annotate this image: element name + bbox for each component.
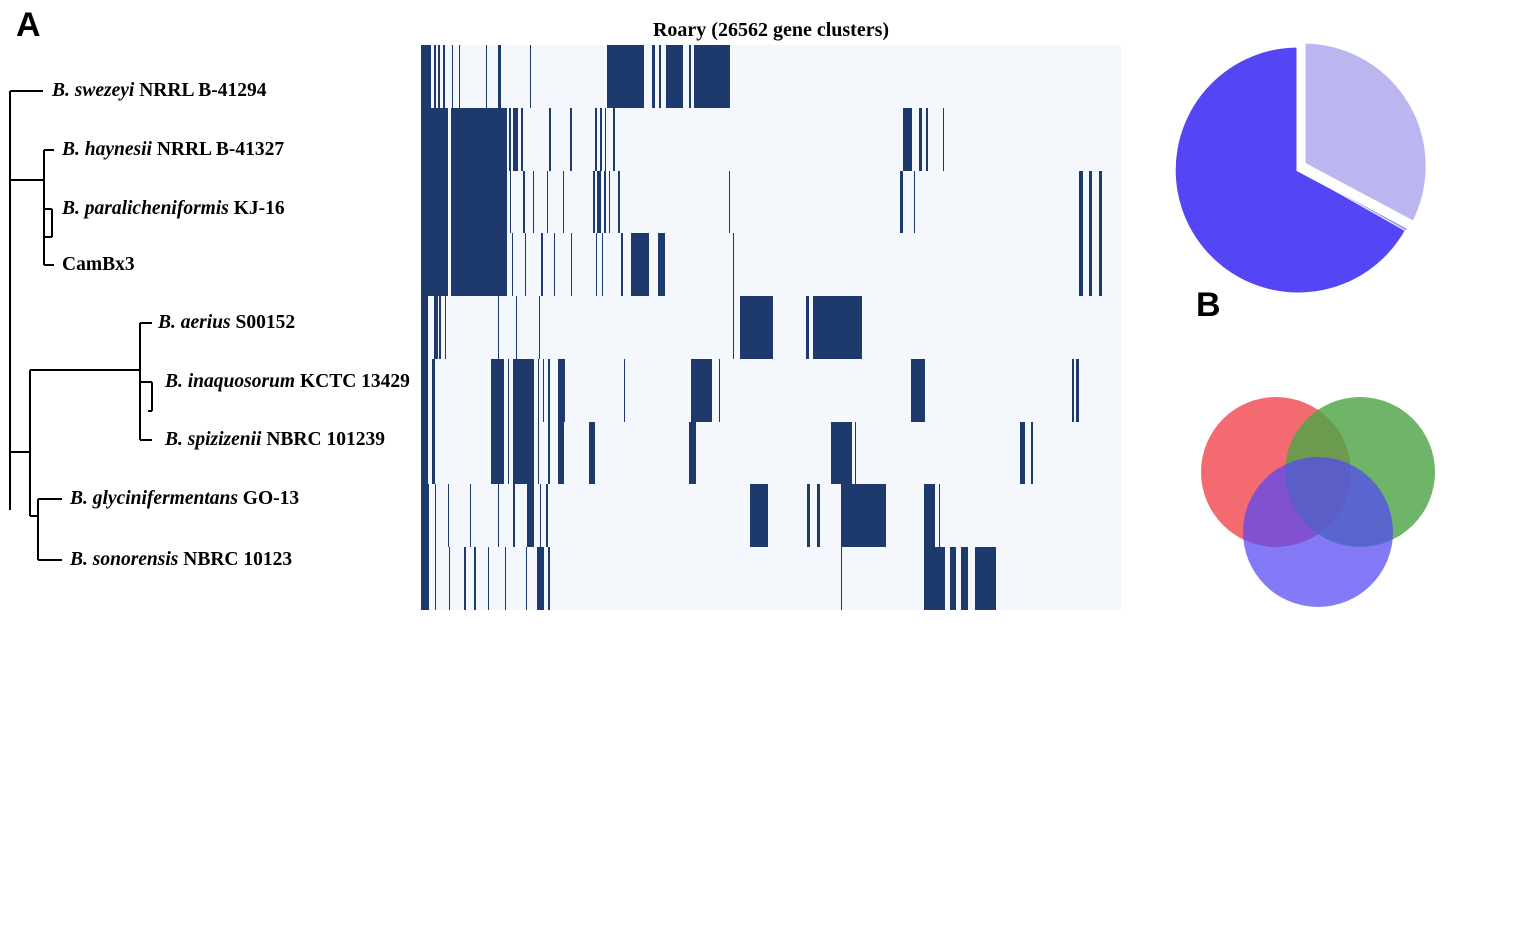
- taxon-strain-glycinifermentans: GO-13: [243, 488, 299, 509]
- heatmap-block: [421, 484, 429, 547]
- heatmap-block: [432, 359, 435, 422]
- heatmap-block: [613, 108, 615, 171]
- heatmap-block: [434, 296, 438, 359]
- taxon-strain-spizizenii: NBRC 101239: [266, 429, 385, 450]
- heatmap-block: [558, 422, 564, 485]
- taxon-strain-sonorensis: NBRC 10123: [183, 549, 292, 570]
- heatmap-block: [439, 296, 440, 359]
- heatmap-block: [512, 233, 513, 296]
- heatmap-block: [541, 233, 542, 296]
- taxon-label-swezeyi: B. swezeyi NRRL B-41294: [52, 81, 267, 101]
- taxon-species-spizizenii: B. spizizenii: [165, 429, 261, 450]
- heatmap-block: [421, 233, 448, 296]
- heatmap-block: [813, 296, 862, 359]
- heatmap-block: [740, 296, 774, 359]
- heatmap-block: [903, 108, 913, 171]
- heatmap-block: [488, 547, 489, 610]
- heatmap-block: [733, 233, 734, 296]
- heatmap-block: [596, 233, 597, 296]
- heatmap-block: [589, 422, 595, 485]
- taxon-species-glycinifermentans: B. glycinifermentans: [70, 488, 238, 509]
- taxon-label-glycinifermentans: B. glycinifermentans GO-13: [70, 489, 299, 509]
- heatmap-block: [421, 296, 428, 359]
- heatmap-block: [607, 45, 643, 108]
- heatmap-block: [498, 45, 501, 108]
- heatmap-block: [513, 484, 514, 547]
- pangenome-pie-chart: Cloud (Strains <1) Shell (1 < = strains …: [1128, 0, 1535, 330]
- heatmap-block: [445, 296, 446, 359]
- heatmap-block: [474, 547, 475, 610]
- heatmap-block: [914, 171, 915, 234]
- heatmap-block: [817, 484, 820, 547]
- heatmap-block: [546, 484, 549, 547]
- heatmap-block: [605, 108, 606, 171]
- heatmap-block: [513, 108, 517, 171]
- taxon-strain-inaquosorum: KCTC 13429: [300, 371, 410, 392]
- figure-root: A: [0, 0, 1535, 622]
- heatmap-block: [527, 484, 534, 547]
- taxon-strain-cambx3: CamBx3: [62, 254, 135, 275]
- heatmap-block: [841, 484, 886, 547]
- heatmap-block: [961, 547, 968, 610]
- heatmap-block: [508, 422, 509, 485]
- heatmap-block: [943, 108, 944, 171]
- taxon-label-cambx3: CamBx3: [62, 255, 135, 275]
- heatmap-block: [1089, 233, 1092, 296]
- heatmap-block: [855, 422, 856, 485]
- heatmap-block: [513, 359, 534, 422]
- heatmap-block: [513, 422, 534, 485]
- heatmap-block: [451, 233, 507, 296]
- taxon-label-sonorensis: B. sonorensis NBRC 10123: [70, 550, 292, 570]
- heatmap-block: [438, 45, 440, 108]
- heatmap-block: [1089, 171, 1092, 234]
- heatmap-block: [926, 108, 929, 171]
- heatmap-block: [523, 171, 524, 234]
- heatmap-block: [900, 171, 903, 234]
- heatmap-block: [658, 233, 665, 296]
- taxon-strain-paralicheniformis: KJ-16: [234, 198, 285, 219]
- heatmap-block: [719, 359, 720, 422]
- taxon-label-paralicheniformis: B. paralicheniformis KJ-16: [62, 199, 285, 219]
- heatmap-block: [593, 171, 594, 234]
- heatmap-block: [1076, 359, 1079, 422]
- heatmap-block: [618, 171, 619, 234]
- heatmap-block: [1072, 359, 1074, 422]
- heatmap-block: [525, 233, 526, 296]
- heatmap-block: [733, 296, 734, 359]
- taxon-species-aerius: B. aerius: [158, 312, 231, 333]
- heatmap-block: [1079, 171, 1083, 234]
- heatmap-block: [435, 484, 436, 547]
- heatmap-block: [491, 422, 504, 485]
- taxon-label-inaquosorum: B. inaquosorum KCTC 13429: [165, 372, 410, 392]
- heatmap-block: [558, 359, 565, 422]
- heatmap-block: [486, 45, 487, 108]
- heatmap-block: [924, 484, 935, 547]
- heatmap-block: [498, 484, 499, 547]
- heatmap-block: [604, 171, 605, 234]
- venn-svg: [1158, 372, 1488, 622]
- heatmap-block: [526, 547, 527, 610]
- heatmap-block: [548, 359, 549, 422]
- heatmap-block: [498, 296, 499, 359]
- heatmap-block: [421, 422, 428, 485]
- heatmap-canvas: [421, 45, 1121, 610]
- pie-svg: [1168, 42, 1458, 300]
- heatmap-block: [729, 171, 730, 234]
- heatmap-block: [521, 108, 523, 171]
- heatmap-block: [609, 171, 610, 234]
- heatmap-block: [571, 233, 572, 296]
- taxon-strain-swezeyi: NRRL B-41294: [139, 80, 266, 101]
- heatmap-block: [841, 547, 842, 610]
- heatmap-block: [691, 359, 712, 422]
- venn-circle-paralicheniformis: [1243, 457, 1393, 607]
- heatmap-block: [666, 45, 683, 108]
- heatmap-block: [602, 233, 603, 296]
- heatmap-block: [541, 547, 544, 610]
- taxon-label-haynesii: B. haynesii NRRL B-41327: [62, 140, 284, 160]
- heatmap-block: [1079, 233, 1083, 296]
- heatmap-block: [547, 171, 548, 234]
- heatmap-block: [421, 171, 448, 234]
- heatmap-block: [631, 233, 649, 296]
- heatmap-block: [459, 45, 460, 108]
- heatmap-block: [451, 108, 507, 171]
- heatmap-block: [470, 484, 471, 547]
- heatmap-block: [621, 233, 622, 296]
- heatmap-block: [1020, 422, 1026, 485]
- heatmap-block: [434, 45, 437, 108]
- heatmap-block: [421, 45, 431, 108]
- phylogenetic-tree: B. swezeyi NRRL B-41294 B. haynesii NRRL…: [0, 0, 420, 622]
- taxon-species-swezeyi: B. swezeyi: [52, 80, 134, 101]
- heatmap-block: [538, 422, 539, 485]
- taxon-label-spizizenii: B. spizizenii NBRC 101239: [165, 430, 385, 450]
- taxon-species-inaquosorum: B. inaquosorum: [165, 371, 295, 392]
- heatmap-block: [435, 547, 436, 610]
- heatmap-block: [549, 108, 551, 171]
- heatmap-block: [509, 108, 511, 171]
- heatmap-block: [624, 359, 625, 422]
- heatmap-block: [806, 296, 809, 359]
- venn-diagram: B. haynesii NRRL B-41327 CamBx3 B. paral…: [1128, 336, 1535, 622]
- roary-gene-presence-heatmap: [421, 45, 1121, 610]
- heatmap-block: [694, 422, 695, 485]
- heatmap-block: [600, 108, 601, 171]
- heatmap-block: [694, 45, 730, 108]
- heatmap-block: [491, 359, 504, 422]
- heatmap-block: [464, 547, 465, 610]
- taxon-species-haynesii: B. haynesii: [62, 139, 152, 160]
- heatmap-block: [548, 547, 549, 610]
- heatmap-title: Roary (26562 gene clusters): [421, 19, 1121, 42]
- heatmap-block: [451, 171, 507, 234]
- heatmap-block: [421, 108, 448, 171]
- heatmap-block: [452, 45, 453, 108]
- heatmap-block: [1099, 171, 1103, 234]
- heatmap-block: [807, 484, 810, 547]
- heatmap-block: [538, 359, 539, 422]
- heatmap-block: [449, 547, 450, 610]
- heatmap-block: [432, 422, 435, 485]
- heatmap-block: [516, 296, 517, 359]
- heatmap-block: [758, 484, 759, 547]
- heatmap-block: [508, 359, 509, 422]
- taxon-strain-haynesii: NRRL B-41327: [157, 139, 284, 160]
- heatmap-block: [595, 108, 597, 171]
- heatmap-block: [563, 171, 564, 234]
- heatmap-block: [1031, 422, 1032, 485]
- heatmap-block: [919, 108, 922, 171]
- taxon-label-aerius: B. aerius S00152: [158, 313, 295, 333]
- heatmap-block: [510, 171, 511, 234]
- panel-letter-b: B: [1196, 288, 1221, 322]
- heatmap-block: [533, 171, 534, 234]
- heatmap-block: [554, 233, 555, 296]
- taxon-species-sonorensis: B. sonorensis: [70, 549, 178, 570]
- heatmap-block: [421, 547, 429, 610]
- heatmap-block: [548, 422, 549, 485]
- taxon-species-paralicheniformis: B. paralicheniformis: [62, 198, 229, 219]
- heatmap-block: [950, 547, 956, 610]
- heatmap-block: [918, 359, 919, 422]
- heatmap-block: [939, 484, 940, 547]
- heatmap-block: [570, 108, 572, 171]
- heatmap-block: [652, 45, 655, 108]
- heatmap-block: [543, 359, 544, 422]
- heatmap-block: [443, 45, 445, 108]
- heatmap-block: [597, 171, 601, 234]
- heatmap-block: [539, 296, 540, 359]
- heatmap-block: [831, 422, 852, 485]
- heatmap-block: [505, 547, 506, 610]
- heatmap-block: [540, 484, 541, 547]
- taxon-strain-aerius: S00152: [235, 312, 295, 333]
- heatmap-block: [689, 45, 691, 108]
- heatmap-block: [448, 484, 449, 547]
- heatmap-block: [659, 45, 661, 108]
- heatmap-block: [975, 547, 996, 610]
- heatmap-block: [537, 547, 541, 610]
- heatmap-block: [530, 45, 531, 108]
- heatmap-block: [1099, 233, 1103, 296]
- heatmap-block: [421, 359, 428, 422]
- heatmap-block: [924, 547, 945, 610]
